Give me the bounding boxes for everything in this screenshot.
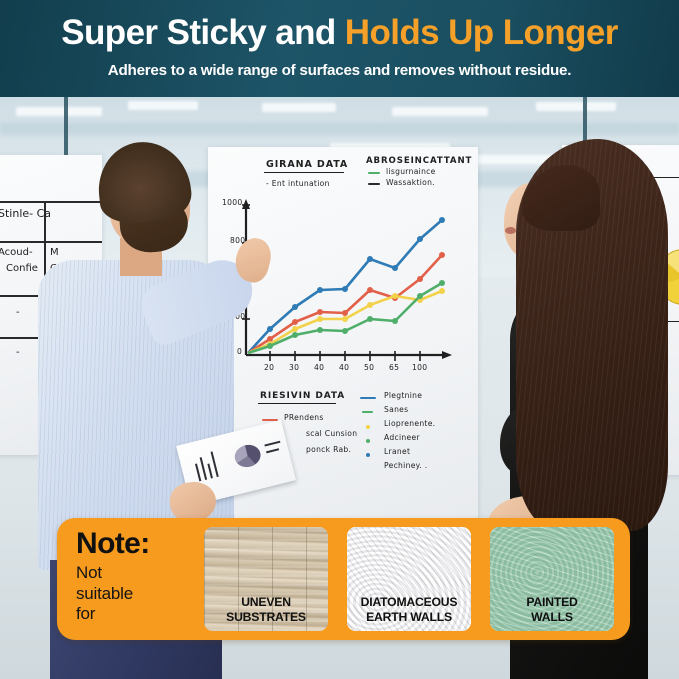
chart-bottom-title: RIESIVIN DATA (260, 391, 345, 401)
legend-label-wassaktion: Wassaktion. (386, 178, 435, 187)
legend-swatch-lranet (366, 453, 370, 457)
document-bar (195, 463, 201, 481)
swatch-label-2: DIATOMACEOUS EARTH WALLS (347, 595, 471, 624)
document-bar (200, 457, 208, 480)
header-subtitle: Adheres to a wide range of surfaces and … (0, 62, 679, 79)
x-tick-40: 40 (314, 363, 324, 372)
document-line (264, 441, 280, 446)
note-subtitle: Notsuitablefor (76, 563, 133, 625)
title-part-white: Super Sticky and (61, 13, 345, 52)
glass-band (0, 123, 679, 135)
legend-label-ponck-rab: ponck Rab. (306, 445, 351, 454)
swatch-label-1-line2: SUBSTRATES (226, 610, 306, 624)
document-bar (207, 463, 213, 478)
title-underline (264, 172, 344, 173)
title-part-orange: Holds Up Longer (345, 13, 618, 52)
document-pie-chart (232, 442, 263, 470)
swatch-uneven-substrates: UNEVEN SUBSTRATES (204, 527, 328, 631)
chart-title-left: GIRANA DATA (266, 159, 348, 170)
legend-label-sanes: Sanes (384, 405, 408, 414)
legend-swatch-lioprenente (366, 425, 370, 429)
ceiling-light (392, 107, 488, 116)
swatch-label-3-line1: PAINTED (526, 595, 577, 609)
note-title: Note: (76, 528, 150, 560)
ceiling-light (262, 103, 336, 112)
note-banner: Note: Notsuitablefor UNEVEN SUBSTRATES D… (57, 518, 630, 640)
legend-label-prendens: PRendens (284, 413, 324, 422)
legend-swatch-lisgurnaince (368, 172, 380, 174)
swatch-label-3: PAINTED WALLS (490, 595, 614, 624)
swatch-label-1: UNEVEN SUBSTRATES (204, 595, 328, 624)
ceiling-light (536, 102, 616, 111)
woman-lips (505, 227, 516, 234)
swatch-label-2-line1: DIATOMACEOUS (361, 595, 458, 609)
x-tick-100: 100 (412, 363, 427, 372)
table-cell: - (16, 307, 20, 318)
legend-label-plegtnine: Plegtnine (384, 391, 422, 400)
chart-title-right: ABROSEINCATTANT (366, 156, 472, 166)
legend-label-scal-cunsion: scal Cunsion (306, 429, 357, 438)
x-tick-20: 20 (264, 363, 274, 372)
chart-subtitle-left: - Ent intunation (266, 179, 330, 188)
table-cell: - (16, 347, 20, 358)
legend-label-lioprenente: Lioprenente. (384, 419, 435, 428)
document-line (266, 448, 279, 453)
ceiling-light (128, 101, 198, 110)
x-tick-50: 50 (364, 363, 374, 372)
legend-swatch-sanes (362, 411, 373, 413)
header-banner: Super Sticky and Holds Up Longer Adheres… (0, 0, 679, 97)
swatch-diatomaceous-earth-walls: DIATOMACEOUS EARTH WALLS (347, 527, 471, 631)
legend-swatch-adcineer (366, 439, 370, 443)
swatch-label-1-line1: UNEVEN (241, 595, 291, 609)
swatch-label-3-line2: WALLS (531, 610, 573, 624)
legend-label-adcineer: Adcineer (384, 433, 420, 442)
bottom-title-underline (258, 403, 336, 404)
swatch-label-2-line2: EARTH WALLS (366, 610, 452, 624)
page-title: Super Sticky and Holds Up Longer (0, 13, 679, 53)
legend-label-pechiney: Pechiney. . (384, 461, 428, 470)
legend-swatch-plegtnine (360, 397, 376, 399)
ceiling-light (16, 107, 102, 116)
product-ad-image: Super Sticky and Holds Up Longer Adheres… (0, 0, 679, 679)
legend-label-lranet: Lranet (384, 447, 410, 456)
legend-swatch-wassaktion (368, 183, 380, 185)
swatch-painted-walls: PAINTED WALLS (490, 527, 614, 631)
legend-label-lisgurnaince: lisgurnaince (386, 167, 436, 176)
x-tick-65: 65 (389, 363, 399, 372)
x-tick-30: 30 (289, 363, 299, 372)
x-tick-40b: 40 (339, 363, 349, 372)
man-hair (94, 137, 194, 226)
